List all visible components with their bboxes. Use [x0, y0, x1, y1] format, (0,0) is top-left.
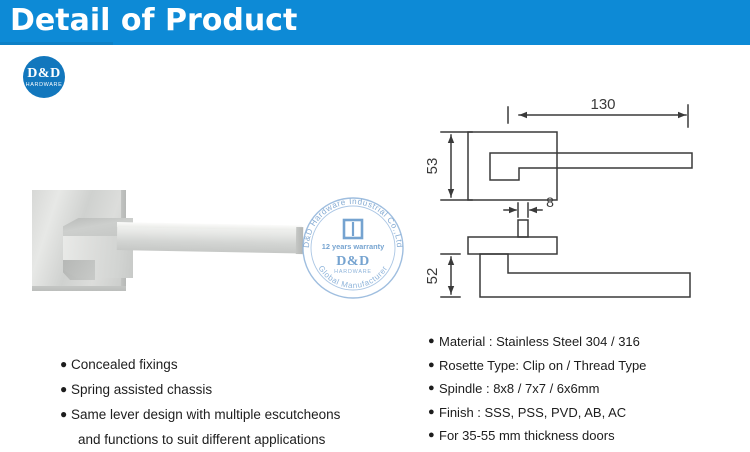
bullet-icon: ●	[428, 401, 439, 425]
dim-arrow-8-left	[509, 207, 517, 213]
lever-neck-shadow	[63, 260, 95, 280]
spec-text: Material : Stainless Steel 304 / 316	[439, 330, 640, 354]
list-item: ● For 35-55 mm thickness doors	[428, 424, 748, 448]
list-item: ● Concealed fixings	[60, 352, 405, 377]
technical-drawing: 130 53 8 52	[420, 95, 750, 320]
front-rosette-outline	[468, 132, 557, 200]
watermark-brand: D&D	[336, 254, 369, 269]
side-lever-outline	[480, 254, 690, 297]
bullet-icon: ●	[60, 377, 71, 402]
rosette-bottom-edge	[32, 286, 126, 291]
dim-arrow-52-bot	[448, 286, 454, 294]
side-spindle-outline	[518, 220, 528, 237]
bullet-icon: ●	[60, 402, 71, 427]
side-rosette-outline	[468, 237, 557, 254]
brand-logo-subtitle: HARDWARE	[23, 82, 65, 89]
front-lever-outline	[490, 153, 692, 180]
dim-arrow-130-right	[678, 112, 686, 118]
page-title: Detail of Product	[10, 3, 297, 39]
dim-label-53: 53	[424, 158, 441, 175]
list-item: ● Material : Stainless Steel 304 / 316	[428, 330, 748, 354]
watermark-emblem-icon	[344, 220, 362, 238]
dim-label-130: 130	[590, 96, 615, 113]
bullet-icon: ●	[428, 424, 439, 448]
list-item: ● Spring assisted chassis	[60, 377, 405, 402]
header-underline-shade	[0, 42, 113, 45]
product-photo	[22, 176, 312, 306]
watermark-warranty: 12 years warranty	[322, 242, 385, 251]
list-item: ● Same lever design with multiple escutc…	[60, 402, 405, 427]
feature-text: Same lever design with multiple escutche…	[71, 402, 340, 427]
list-item: ● Finish : SSS, PSS, PVD, AB, AC	[428, 401, 748, 425]
feature-list: ● Concealed fixings ● Spring assisted ch…	[60, 352, 405, 452]
watermark-brand-sub: HARDWARE	[334, 269, 372, 275]
dim-label-52: 52	[424, 268, 441, 285]
brand-logo-name: D&D	[23, 67, 65, 81]
dim-arrow-52-top	[448, 257, 454, 265]
feature-text-continued: and functions to suit different applicat…	[60, 427, 405, 452]
spec-text: Rosette Type: Clip on / Thread Type	[439, 354, 646, 378]
spec-text: Spindle : 8x8 / 7x7 / 6x6mm	[439, 377, 599, 401]
spec-text: For 35-55 mm thickness doors	[439, 424, 615, 448]
dim-arrow-53-bot	[448, 189, 454, 197]
bullet-icon: ●	[428, 354, 439, 378]
dim-arrow-130-left	[519, 112, 527, 118]
dim-label-8: 8	[546, 194, 554, 210]
feature-text: Concealed fixings	[71, 352, 178, 377]
dim-arrow-53-top	[448, 135, 454, 143]
watermark-seal: D&D Hardware Industrial Co.,Ltd Global M…	[296, 191, 410, 305]
spec-list: ● Material : Stainless Steel 304 / 316 ●…	[428, 330, 748, 448]
bullet-icon: ●	[60, 352, 71, 377]
list-item: ● Spindle : 8x8 / 7x7 / 6x6mm	[428, 377, 748, 401]
list-item: ● Rosette Type: Clip on / Thread Type	[428, 354, 748, 378]
dim-arrow-8-right	[529, 207, 537, 213]
brand-logo: D&D HARDWARE	[23, 56, 65, 98]
bullet-icon: ●	[428, 377, 439, 401]
bullet-icon: ●	[428, 330, 439, 354]
spec-text: Finish : SSS, PSS, PVD, AB, AC	[439, 401, 626, 425]
feature-text: Spring assisted chassis	[71, 377, 212, 402]
